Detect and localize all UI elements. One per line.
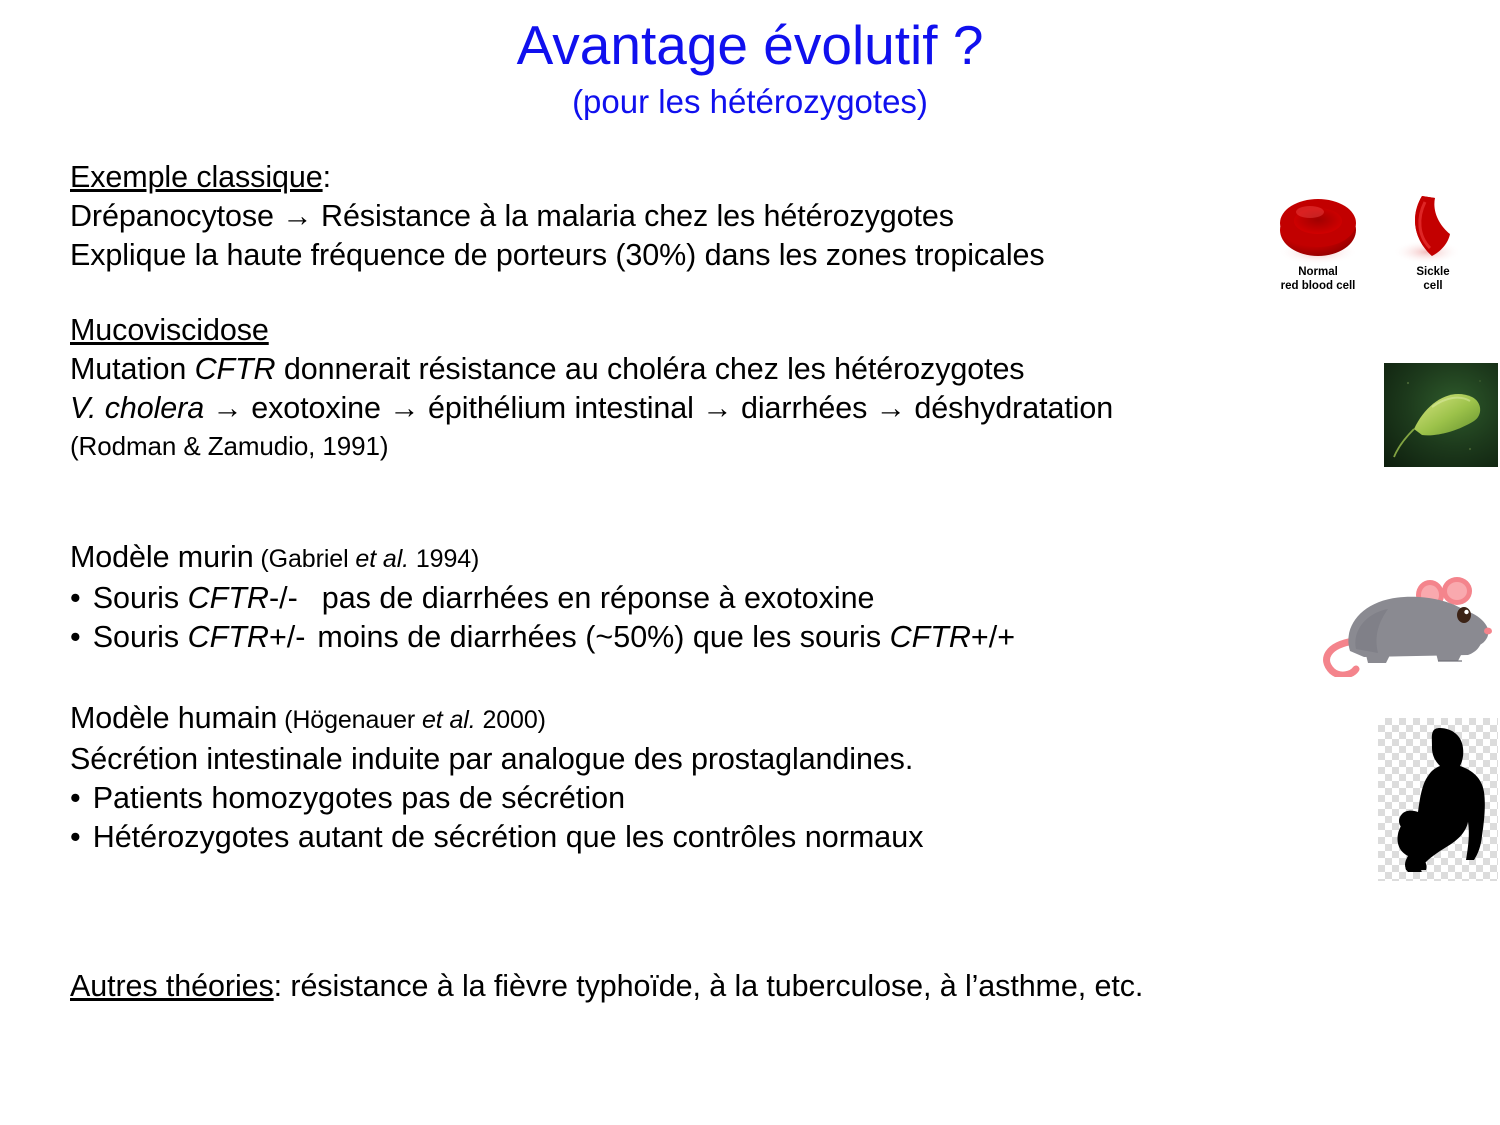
vibrio-svg bbox=[1384, 363, 1498, 467]
section-mouse-model: Modèle murin (Gabriel et al. 1994) •Sour… bbox=[70, 538, 1410, 657]
cf-species-name: V. cholera bbox=[70, 391, 204, 425]
cf-step-4: déshydratation bbox=[914, 391, 1113, 425]
human-citation-open: (Högenauer bbox=[277, 706, 422, 734]
right-arrow-icon: → bbox=[381, 391, 428, 425]
classic-line1-part-b: Résistance à la malaria chez les hétéroz… bbox=[313, 199, 954, 233]
cf-gene-name: CFTR bbox=[195, 352, 276, 386]
classic-heading: Exemple classique: bbox=[70, 158, 1410, 197]
cf-step-1: exotoxine bbox=[251, 391, 381, 425]
spacer-5 bbox=[70, 931, 1410, 967]
mouse-hind-foot bbox=[1366, 655, 1390, 663]
section-cystic-fibrosis: Mucoviscidose Mutation CFTR donnerait ré… bbox=[70, 311, 1410, 464]
mouse-citation-close: 1994) bbox=[409, 545, 479, 573]
page-title: Avantage évolutif ? bbox=[0, 14, 1500, 76]
mouse-front-foot bbox=[1436, 653, 1462, 661]
other-theories-heading: Autres théories bbox=[70, 969, 274, 1003]
mouse-b1-genotype: -/- bbox=[269, 581, 298, 615]
other-theories-line: Autres théories: résistance à la fièvre … bbox=[70, 967, 1410, 1006]
mouse-b2-result: moins de diarrhées (~50%) que les souris bbox=[317, 620, 889, 654]
section-human-model: Modèle humain (Högenauer et al. 2000) Sé… bbox=[70, 699, 1410, 857]
classic-line-2: Explique la haute fréquence de porteurs … bbox=[70, 236, 1410, 275]
crouching-person-shape bbox=[1397, 728, 1484, 872]
title-block: Avantage évolutif ? (pour les hétérozygo… bbox=[0, 14, 1500, 124]
cf-line1-part-a: Mutation bbox=[70, 352, 195, 386]
mouse-b2-gene-2: CFTR bbox=[890, 620, 971, 654]
mouse-b2-gene: CFTR bbox=[188, 620, 269, 654]
mouse-b2-genotype-2: +/+ bbox=[971, 620, 1015, 654]
mouse-eye bbox=[1457, 607, 1471, 623]
classic-line1-part-a: Drépanocytose bbox=[70, 199, 282, 233]
sickle-cell-svg: Normal red blood cell Sickle cell bbox=[1272, 190, 1498, 300]
mouse-b1-part-a: Souris bbox=[93, 581, 188, 615]
mouse-bullet-2: •Souris CFTR+/-moins de diarrhées (~50%)… bbox=[70, 618, 1410, 657]
cf-heading-text: Mucoviscidose bbox=[70, 313, 269, 347]
cf-step-3: diarrhées bbox=[741, 391, 867, 425]
right-arrow-icon: → bbox=[694, 391, 741, 425]
mouse-b1-gene: CFTR bbox=[188, 581, 269, 615]
bullet-icon: • bbox=[70, 781, 81, 815]
vibrio-cholerae-photo bbox=[1384, 363, 1498, 467]
bullet-icon: • bbox=[70, 581, 81, 615]
mouse-b2-genotype: +/- bbox=[269, 620, 305, 654]
human-model-heading: Modèle humain (Högenauer et al. 2000) bbox=[70, 699, 1410, 740]
mouse-model-heading: Modèle murin (Gabriel et al. 1994) bbox=[70, 538, 1410, 579]
spacer-3 bbox=[70, 657, 1410, 699]
classic-line-1: Drépanocytose → Résistance à la malaria … bbox=[70, 197, 1410, 236]
normal-cell-label-line1: Normal bbox=[1298, 266, 1338, 278]
classic-heading-colon: : bbox=[323, 160, 331, 194]
bullet-icon: • bbox=[70, 820, 81, 854]
spacer-4 bbox=[70, 857, 1410, 931]
human-model-line-1: Sécrétion intestinale induite par analog… bbox=[70, 740, 1410, 779]
mouse-svg bbox=[1312, 575, 1498, 677]
flagellum bbox=[1394, 429, 1414, 457]
human-citation-etal: et al. bbox=[422, 706, 476, 734]
human-bullet-2: •Hétérozygotes autant de sécrétion que l… bbox=[70, 818, 1410, 857]
mouse-nose bbox=[1484, 628, 1492, 635]
slide-body: Exemple classique: Drépanocytose → Résis… bbox=[70, 158, 1410, 1006]
page-subtitle: (pour les hétérozygotes) bbox=[0, 80, 1500, 124]
cf-line1-part-b: donnerait résistance au choléra chez les… bbox=[275, 352, 1024, 386]
mouse-model-heading-text: Modèle murin bbox=[70, 540, 254, 574]
classic-heading-text: Exemple classique bbox=[70, 160, 323, 194]
spacer-1 bbox=[70, 275, 1410, 311]
sickle-cell-label-line2: cell bbox=[1423, 280, 1442, 292]
mouse-illustration bbox=[1312, 575, 1498, 677]
right-arrow-icon: → bbox=[204, 391, 251, 425]
normal-cell-label-line2: red blood cell bbox=[1281, 280, 1356, 292]
cf-heading: Mucoviscidose bbox=[70, 311, 1410, 350]
human-b2-text: Hétérozygotes autant de sécrétion que le… bbox=[93, 820, 924, 854]
spacer-2 bbox=[70, 464, 1410, 538]
mouse-b2-part-a: Souris bbox=[93, 620, 188, 654]
section-other-theories: Autres théories: résistance à la fièvre … bbox=[70, 967, 1410, 1006]
sickle-cell-diagram: Normal red blood cell Sickle cell bbox=[1272, 190, 1498, 300]
cf-citation: (Rodman & Zamudio, 1991) bbox=[70, 428, 1410, 464]
cf-line-1: Mutation CFTR donnerait résistance au ch… bbox=[70, 350, 1410, 389]
mouse-bullet-1: •Souris CFTR-/-pas de diarrhées en répon… bbox=[70, 579, 1410, 618]
human-silhouette bbox=[1378, 718, 1498, 881]
cf-step-2: épithélium intestinal bbox=[428, 391, 694, 425]
right-arrow-icon: → bbox=[282, 199, 312, 233]
right-arrow-icon: → bbox=[867, 391, 914, 425]
human-model-heading-text: Modèle humain bbox=[70, 701, 277, 735]
human-bullet-1: •Patients homozygotes pas de sécrétion bbox=[70, 779, 1410, 818]
normal-red-blood-cell-shape bbox=[1280, 199, 1356, 256]
section-classic-example: Exemple classique: Drépanocytose → Résis… bbox=[70, 158, 1410, 275]
bullet-icon: • bbox=[70, 620, 81, 654]
mouse-b1-result: pas de diarrhées en réponse à exotoxine bbox=[322, 581, 875, 615]
mouse-citation-etal: et al. bbox=[355, 545, 409, 573]
cf-line-2: V. cholera → exotoxine → épithélium inte… bbox=[70, 389, 1410, 428]
mouse-citation-open: (Gabriel bbox=[254, 545, 356, 573]
other-theories-rest: : résistance à la fièvre typhoïde, à la … bbox=[274, 969, 1144, 1003]
human-silhouette-svg bbox=[1378, 718, 1498, 881]
human-b1-text: Patients homozygotes pas de sécrétion bbox=[93, 781, 625, 815]
human-citation-close: 2000) bbox=[476, 706, 546, 734]
sickle-cell-label-line1: Sickle bbox=[1416, 266, 1449, 278]
